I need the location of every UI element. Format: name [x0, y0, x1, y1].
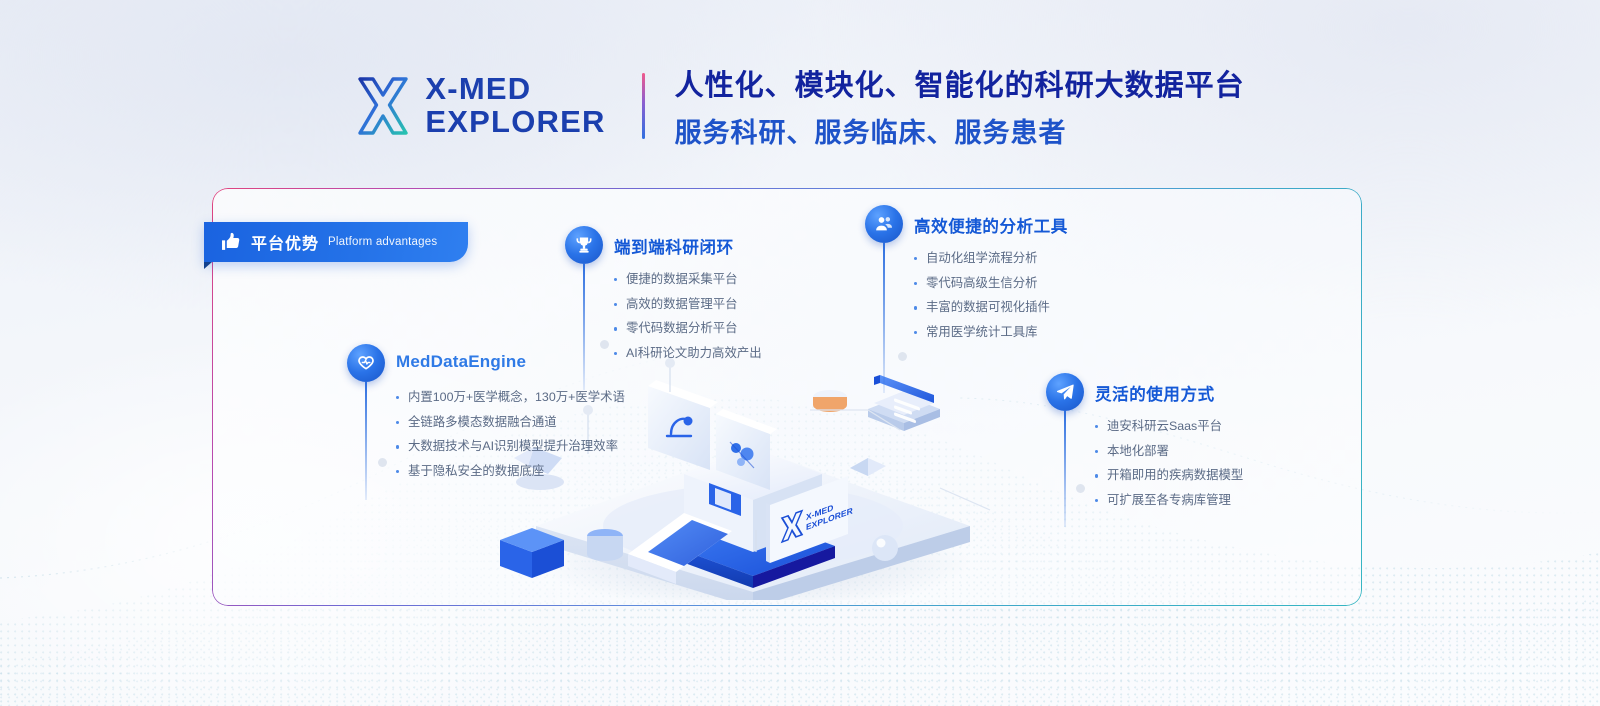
- prop-pill: [813, 390, 847, 412]
- users-icon: [865, 205, 903, 243]
- header-tagline: 人性化、模块化、智能化的科研大数据平台 服务科研、服务临床、服务患者: [675, 62, 1245, 150]
- thumbs-up-icon: [220, 231, 242, 253]
- trophy-icon: [565, 226, 603, 264]
- feature-item-list: 自动化组学流程分析 零代码高级生信分析 丰富的数据可视化插件 常用医学统计工具库: [914, 252, 1068, 340]
- prop-cylinder: [587, 529, 623, 561]
- tagline-line2: 服务科研、服务临床、服务患者: [675, 111, 1245, 150]
- feature-list-item: 零代码数据分析平台: [614, 322, 762, 336]
- feature-title: 灵活的使用方式: [1095, 373, 1215, 405]
- feature-header: MedDataEngine: [347, 344, 625, 382]
- feature-list-item: 大数据技术与AI识别模型提升治理效率: [396, 440, 625, 454]
- feature-header: 灵活的使用方式: [1046, 373, 1243, 411]
- ribbon-title-cn: 平台优势: [251, 230, 319, 254]
- feature-list-item: 基于隐私安全的数据底座: [396, 465, 625, 479]
- feature-item-list: 迪安科研云Saas平台 本地化部署 开箱即用的疾病数据模型 可扩展至各专病库管理: [1095, 420, 1243, 508]
- pin-stem: [365, 382, 367, 500]
- brand-line2: EXPLORER: [425, 106, 605, 139]
- prop-sphere: [872, 535, 898, 561]
- feature-list-item: 便捷的数据采集平台: [614, 273, 762, 287]
- feature-list-item: 丰富的数据可视化插件: [914, 301, 1068, 315]
- feature-title: 端到端科研闭环: [614, 226, 734, 258]
- connector-dot: [898, 352, 907, 361]
- prop-diamond: [850, 458, 886, 476]
- feature-item-list: 便捷的数据采集平台 高效的数据管理平台 零代码数据分析平台 AI科研论文助力高效…: [614, 273, 762, 361]
- feature-block-flexible: 灵活的使用方式 迪安科研云Saas平台 本地化部署 开箱即用的疾病数据模型 可扩…: [1046, 373, 1243, 519]
- feature-list-item: 自动化组学流程分析: [914, 252, 1068, 266]
- feature-list-item: 高效的数据管理平台: [614, 298, 762, 312]
- paper-plane-icon: [1046, 373, 1084, 411]
- ribbon-title-en: Platform advantages: [328, 236, 437, 248]
- platform-advantages-ribbon: 平台优势 Platform advantages: [204, 222, 468, 262]
- feature-list-item: 全链路多模态数据融合通道: [396, 416, 625, 430]
- header-divider: [642, 73, 645, 139]
- brand-wordmark: X-MED EXPLORER: [425, 73, 605, 139]
- feature-list-item: 迪安科研云Saas平台: [1095, 420, 1243, 434]
- feature-title: MedDataEngine: [396, 344, 526, 372]
- tagline-line1: 人性化、模块化、智能化的科研大数据平台: [675, 62, 1245, 104]
- feature-title: 高效便捷的分析工具: [914, 205, 1068, 237]
- feature-block-meddataengine: MedDataEngine 内置100万+医学概念，130万+医学术语 全链路多…: [347, 344, 625, 490]
- feature-item-list: 内置100万+医学概念，130万+医学术语 全链路多模态数据融合通道 大数据技术…: [396, 391, 625, 479]
- feature-list-item: 本地化部署: [1095, 445, 1243, 459]
- feature-list-item: 零代码高级生信分析: [914, 277, 1068, 291]
- feature-header: 端到端科研闭环: [565, 226, 762, 264]
- feature-list-item: 常用医学统计工具库: [914, 326, 1068, 340]
- pin-stem: [883, 243, 885, 393]
- pin-stem: [1064, 411, 1066, 527]
- heartbeat-icon: [347, 344, 385, 382]
- brand-logo: X-MED EXPLORER: [355, 73, 605, 139]
- feature-header: 高效便捷的分析工具: [865, 205, 1068, 243]
- page-header: X-MED EXPLORER 人性化、模块化、智能化的科研大数据平台 服务科研、…: [0, 62, 1600, 150]
- brand-line1: X-MED: [425, 73, 605, 106]
- feature-list-item: 可扩展至各专病库管理: [1095, 494, 1243, 508]
- feature-list-item: 内置100万+医学概念，130万+医学术语: [396, 391, 625, 405]
- x-mark-logo-icon: [355, 75, 411, 137]
- feature-block-tools: 高效便捷的分析工具 自动化组学流程分析 零代码高级生信分析 丰富的数据可视化插件…: [865, 205, 1068, 351]
- feature-list-item: 开箱即用的疾病数据模型: [1095, 469, 1243, 483]
- feature-list-item: AI科研论文助力高效产出: [614, 347, 762, 361]
